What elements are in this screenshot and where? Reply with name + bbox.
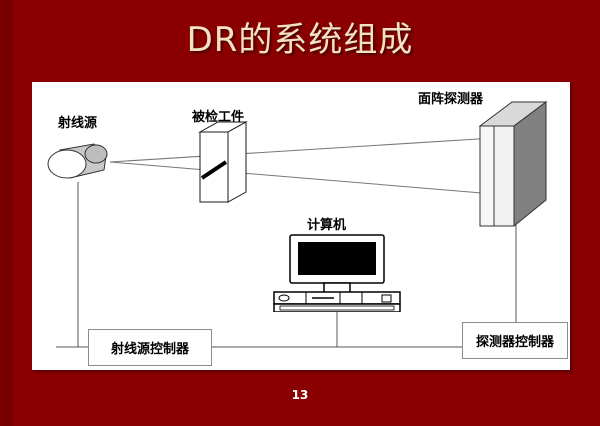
computer-icon [272, 234, 402, 312]
label-computer: 计算机 [307, 214, 346, 233]
label-detector: 面阵探测器 [418, 88, 483, 107]
xray-source-icon [46, 140, 112, 186]
left-edge-stripe [0, 0, 13, 426]
source-controller-box: 射线源控制器 [88, 329, 212, 366]
page-number: 13 [0, 388, 600, 402]
page-title: DR的系统组成 [0, 12, 600, 61]
workpiece-icon [192, 120, 262, 218]
label-source: 射线源 [58, 112, 97, 131]
diagram-panel: 射线源 被检工件 面阵探测器 计算机 射线源控制器 探测器控制器 [32, 82, 570, 370]
detector-controller-box: 探测器控制器 [462, 322, 568, 359]
slide-root: DR的系统组成 [0, 0, 600, 426]
label-workpiece: 被检工件 [192, 106, 244, 125]
area-array-detector-icon [472, 100, 552, 232]
